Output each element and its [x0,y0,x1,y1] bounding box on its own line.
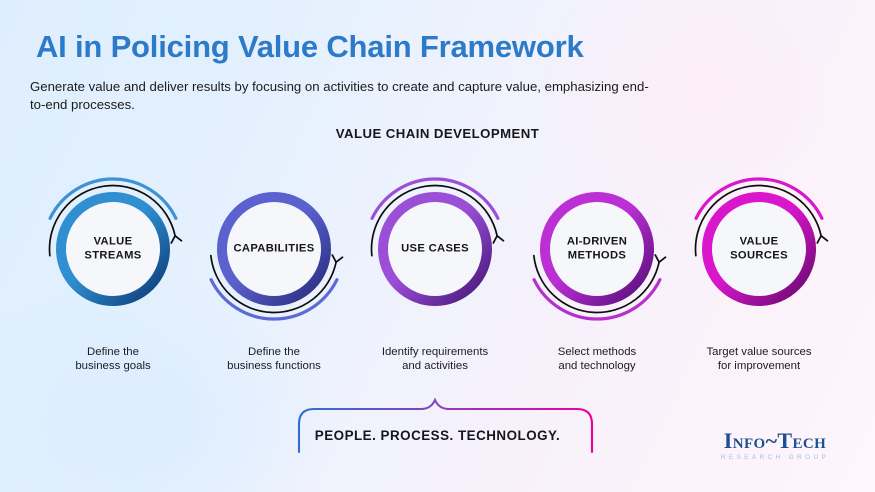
node-caption-1: Define the business goals [75,346,150,373]
info-tech-logo: Info~Tech RESEARCH GROUP [693,430,857,462]
logo-wordmark: Info~Tech [693,430,857,452]
node-caption-5: Target value sources for improvement [706,346,811,373]
flow-arrowhead-3 [492,235,503,243]
node-caption-2: Define the business functions [227,346,321,373]
flow-arrowhead-1 [170,235,181,243]
flow-arrowhead-5 [816,235,827,243]
flow-arrowhead-2 [331,255,342,263]
slide-canvas: AI in Policing Value Chain Framework Gen… [0,0,875,492]
logo-tagline: RESEARCH GROUP [693,454,857,462]
flow-arrowhead-4 [654,255,665,263]
node-caption-3: Identify requirements and activities [382,346,488,373]
node-caption-4: Select methods and technology [558,346,637,373]
